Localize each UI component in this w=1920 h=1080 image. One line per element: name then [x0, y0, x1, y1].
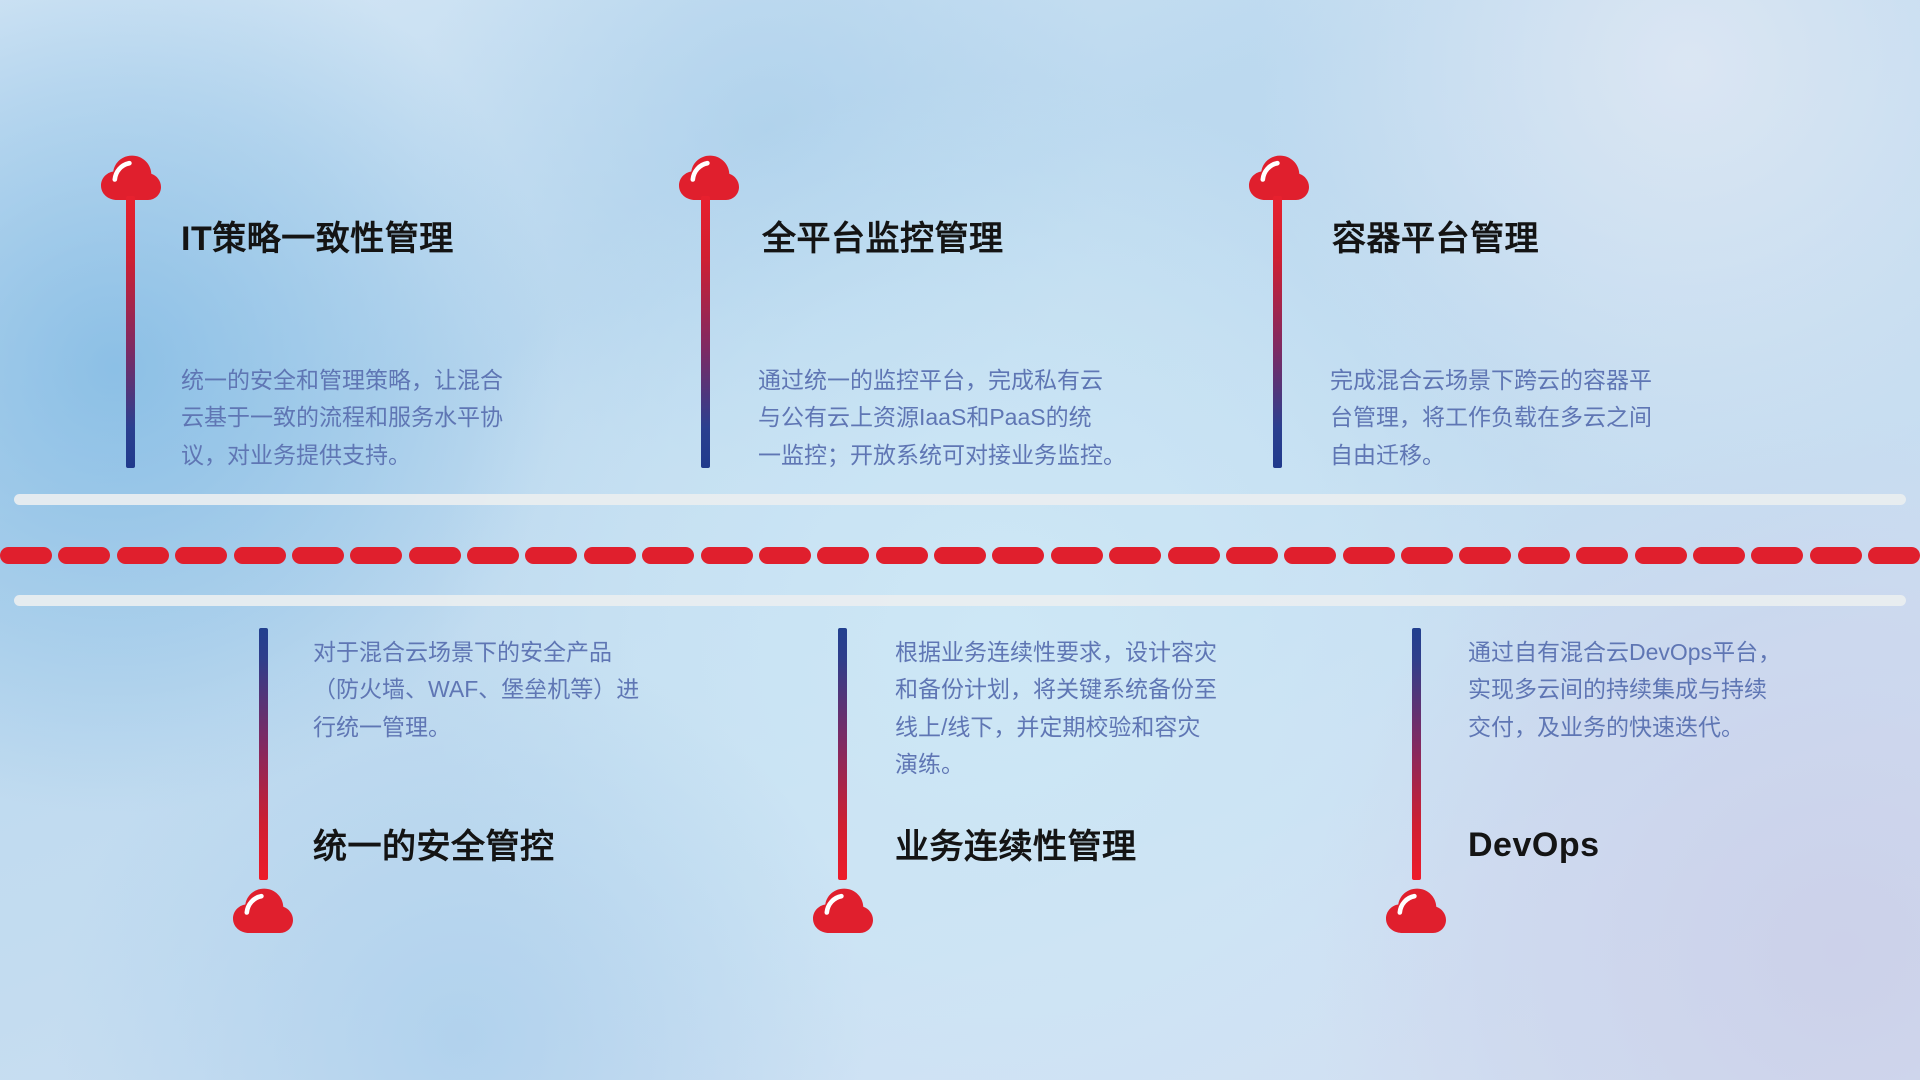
infographic-canvas: IT策略一致性管理 统一的安全和管理策略，让混合 云基于一致的流程和服务水平协 … [0, 0, 1920, 1080]
road-line-bottom [14, 595, 1906, 606]
road-dash [1401, 547, 1453, 564]
road-dash [350, 547, 402, 564]
road-dash [1751, 547, 1803, 564]
road-dash [409, 547, 461, 564]
column-title: 全平台监控管理 [762, 222, 1004, 256]
cloud-icon [812, 888, 874, 934]
road-dash [992, 547, 1044, 564]
column-body: 通过自有混合云DevOps平台， 实现多云间的持续集成与持续 交付，及业务的快速… [1468, 634, 1888, 746]
stem-line [1412, 628, 1421, 880]
column-body: 根据业务连续性要求，设计容灾 和备份计划，将关键系统备份至 线上/线下，并定期校… [895, 634, 1315, 783]
road-dash [467, 547, 519, 564]
road-dash [1284, 547, 1336, 564]
column-body: 统一的安全和管理策略，让混合 云基于一致的流程和服务水平协 议，对业务提供支持。 [181, 362, 601, 474]
road-dash [1109, 547, 1161, 564]
cloud-icon [1385, 888, 1447, 934]
cloud-icon [232, 888, 294, 934]
road-dash [117, 547, 169, 564]
road-dash [934, 547, 986, 564]
stem-line [1273, 196, 1282, 468]
cloud-icon [678, 155, 740, 201]
road-dash [1810, 547, 1862, 564]
cloud-icon [1248, 155, 1310, 201]
road-dash [292, 547, 344, 564]
column-title: 业务连续性管理 [895, 830, 1137, 864]
column-title: IT策略一致性管理 [181, 222, 454, 256]
road-dash [876, 547, 928, 564]
road-dash [1343, 547, 1395, 564]
column-title: 统一的安全管控 [313, 830, 555, 864]
road-dashed-centerline [0, 546, 1920, 564]
column-body: 对于混合云场景下的安全产品 （防火墙、WAF、堡垒机等）进 行统一管理。 [313, 634, 733, 746]
road-dash [525, 547, 577, 564]
road-dash [817, 547, 869, 564]
road-dash [1576, 547, 1628, 564]
road-dash [759, 547, 811, 564]
column-body: 通过统一的监控平台，完成私有云 与公有云上资源IaaS和PaaS的统 一监控；开… [758, 362, 1198, 474]
road-dash [1168, 547, 1220, 564]
road-dash [175, 547, 227, 564]
road-dash [701, 547, 753, 564]
road-dash [1459, 547, 1511, 564]
column-title: 容器平台管理 [1332, 222, 1539, 256]
road-dash [0, 547, 52, 564]
stem-line [701, 196, 710, 468]
stem-line [126, 196, 135, 468]
stem-line [259, 628, 268, 880]
column-body: 完成混合云场景下跨云的容器平 台管理，将工作负载在多云之间 自由迁移。 [1330, 362, 1750, 474]
road-dash [1635, 547, 1687, 564]
road-dash [58, 547, 110, 564]
road-dash [584, 547, 636, 564]
cloud-icon [100, 155, 162, 201]
stem-line [838, 628, 847, 880]
road-line-top [14, 494, 1906, 505]
road-dash [1226, 547, 1278, 564]
column-title: DevOps [1468, 828, 1600, 862]
road-dash [1868, 547, 1920, 564]
road-dash [1051, 547, 1103, 564]
road-dash [1518, 547, 1570, 564]
road-dash [642, 547, 694, 564]
road-dash [1693, 547, 1745, 564]
road-dash [234, 547, 286, 564]
